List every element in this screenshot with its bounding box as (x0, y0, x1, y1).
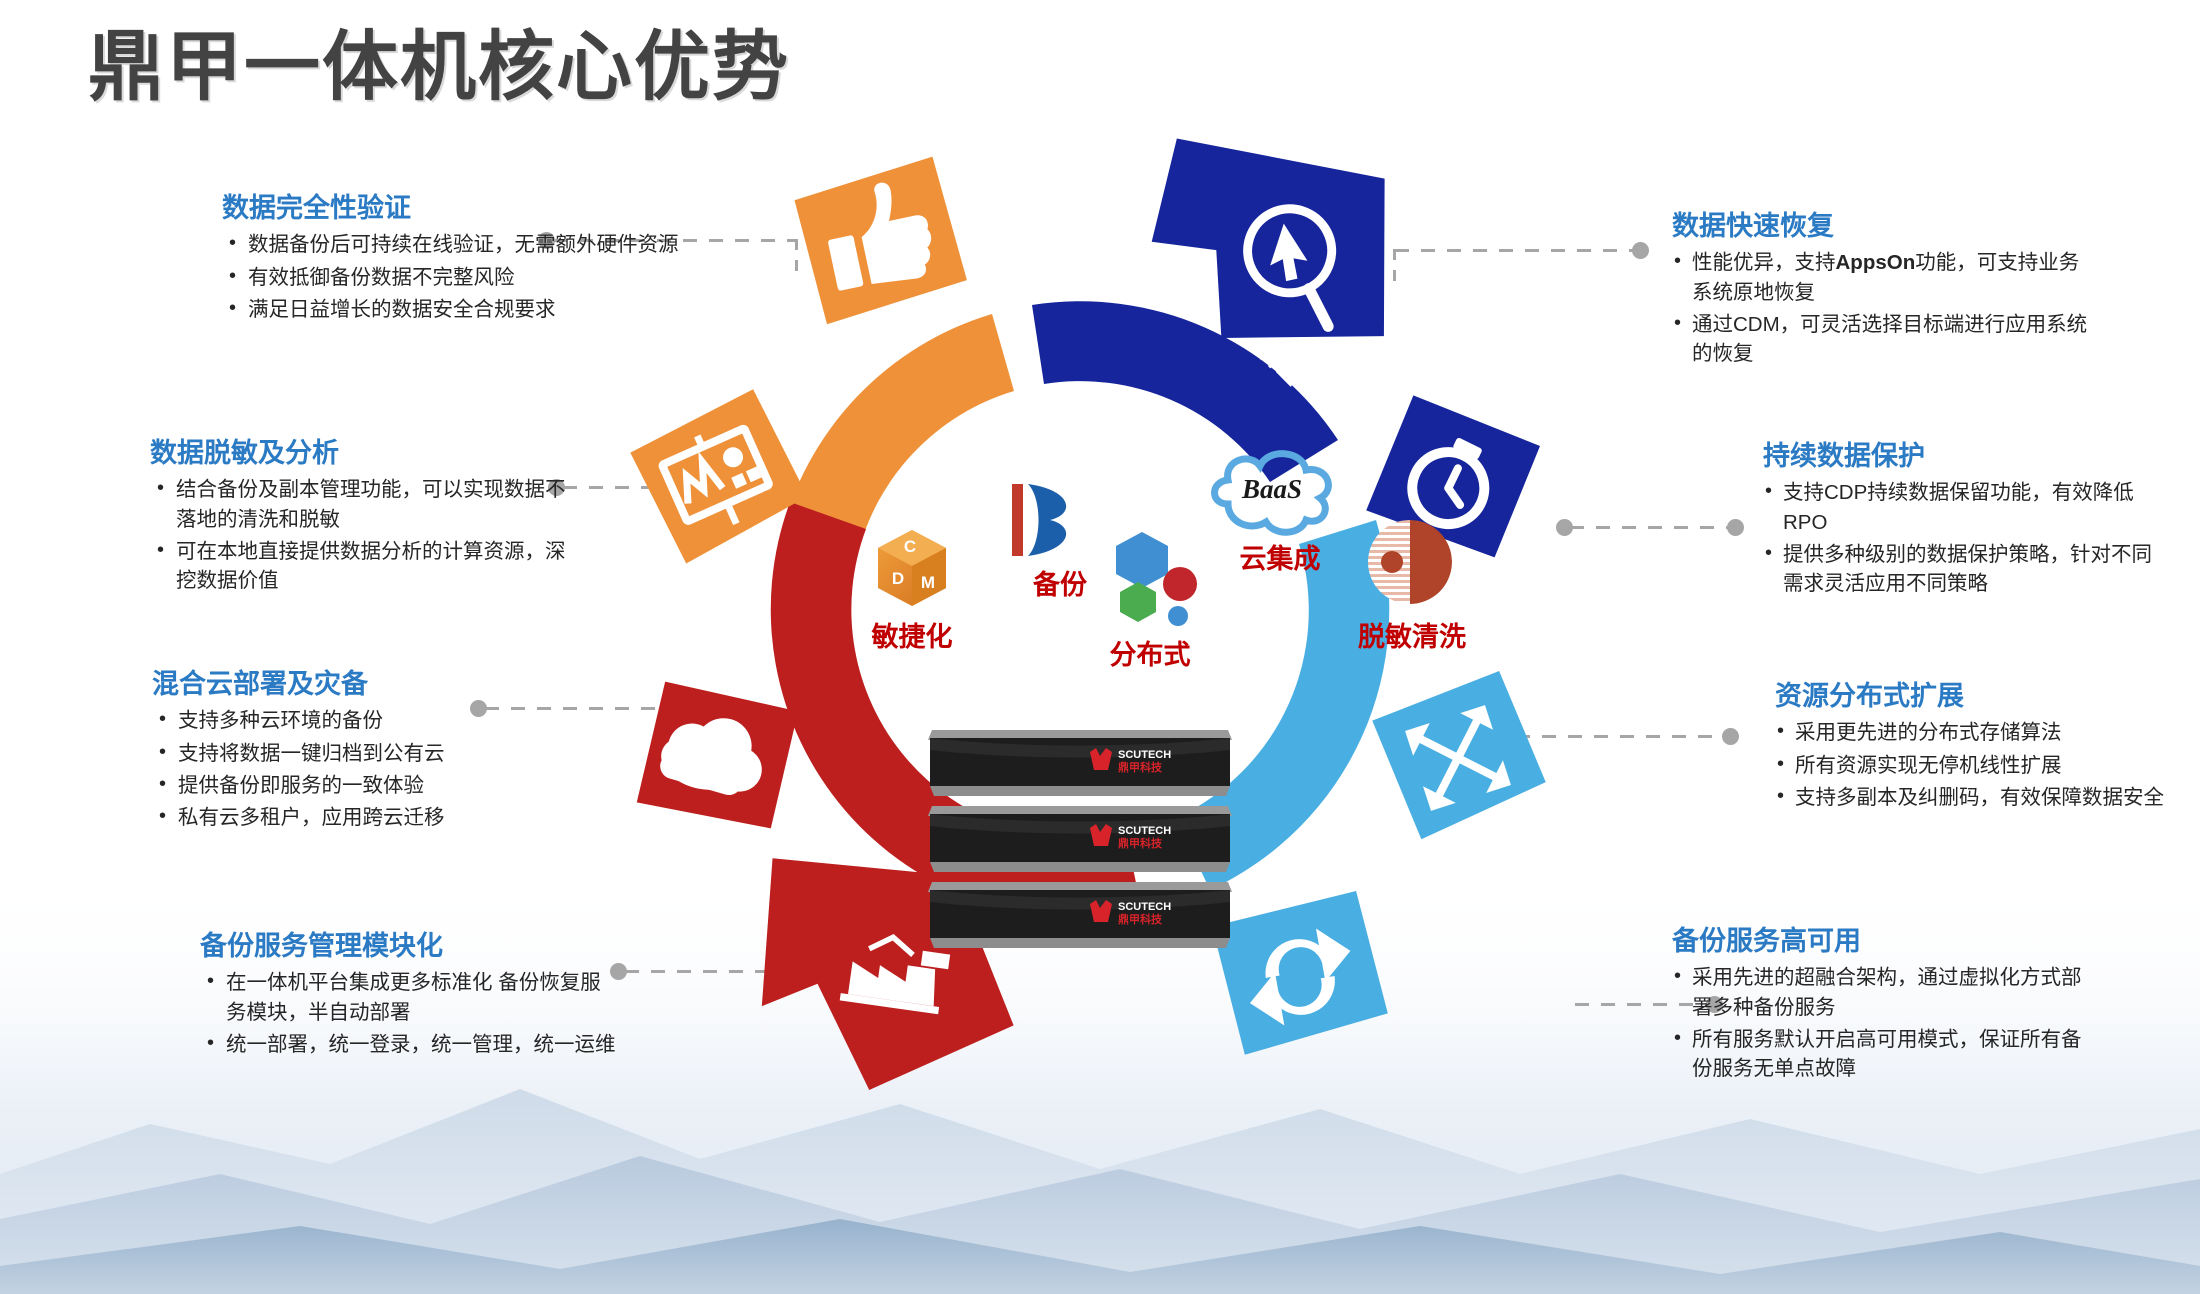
bullet-item: 统一部署，统一登录，统一管理，统一运维 (200, 1030, 620, 1059)
brand-cn: 鼎甲科技 (1118, 760, 1163, 774)
center-label-distributed: 分布式 (1110, 640, 1191, 670)
bullet-item: 提供备份即服务的一致体验 (152, 771, 582, 800)
block-bullet-list: 支持多种云环境的备份 支持将数据一键归档到公有云 提供备份即服务的一致体验 私有… (152, 706, 582, 831)
center-label-cdm: 敏捷化 (871, 622, 953, 652)
center-item-cdm[interactable]: C D M 敏捷化 (871, 530, 953, 652)
block-bullet-list: 采用更先进的分布式存储算法 所有资源实现无停机线性扩展 支持多副本及纠删码，有效… (1775, 718, 2180, 811)
center-label-masking: 脱敏清洗 (1358, 622, 1466, 652)
bullet-item: 支持多种云环境的备份 (152, 706, 582, 735)
text-block-hybrid-cloud-deployment-dr: 混合云部署及灾备 支持多种云环境的备份 支持将数据一键归档到公有云 提供备份即服… (152, 668, 582, 835)
connector-dot-7 (1722, 728, 1739, 745)
block-heading: 备份服务管理模块化 (200, 930, 620, 962)
connector-line-6 (1570, 526, 1730, 529)
bullet-item: 提供多种级别的数据保护策略，针对不同需求灵活应用不同策略 (1763, 540, 2163, 598)
block-heading: 备份服务高可用 (1672, 925, 2097, 957)
block-heading: 数据脱敏及分析 (150, 437, 580, 469)
bullet-item: 采用更先进的分布式存储算法 (1775, 718, 2180, 747)
bullet-item: 通过CDM，可灵活选择目标端进行应用系统的恢复 (1672, 310, 2092, 368)
badge-sync-refresh[interactable] (1210, 889, 1390, 1056)
center-item-backup[interactable]: 备份 (1012, 484, 1087, 600)
center-label-cloud-integration: 云集成 (1240, 543, 1321, 574)
center-item-distributed[interactable]: 分布式 (1110, 532, 1198, 670)
brand-en: SCUTECH (1118, 825, 1171, 837)
bullet-item: 私有云多租户，应用跨云迁移 (152, 803, 582, 832)
block-heading: 数据快速恢复 (1672, 210, 2092, 242)
bullet-item: 可在本地直接提供数据分析的计算资源，深挖数据价值 (150, 537, 580, 595)
text-block-data-masking-analysis: 数据脱敏及分析 结合备份及副本管理功能，可以实现数据不落地的清洗和脱敏 可在本地… (150, 437, 580, 598)
badge-thumbs-up[interactable] (792, 155, 970, 325)
brand-en: SCUTECH (1118, 901, 1171, 913)
text-block-backup-service-modularization: 备份服务管理模块化 在一体机平台集成更多标准化 备份恢复服务模块，半自动部署 统… (200, 930, 620, 1062)
bullet-item: 结合备份及副本管理功能，可以实现数据不落地的清洗和脱敏 (150, 475, 580, 533)
bullet-emphasis-appson: AppsOn (1836, 251, 1916, 274)
block-heading: 资源分布式扩展 (1775, 680, 2180, 712)
scutech-server-stack[interactable]: SCUTECH 鼎甲科技 SCUTECH 鼎甲科技 SCUTECH (928, 730, 1232, 948)
bullet-item: 所有服务默认开启高可用模式，保证所有备份服务无单点故障 (1672, 1025, 2097, 1083)
bullet-item: 所有资源实现无停机线性扩展 (1775, 751, 2180, 780)
db-logo-icon (1012, 484, 1066, 556)
svg-text:M: M (921, 573, 935, 592)
text-block-continuous-data-protection: 持续数据保护 支持CDP持续数据保留功能，有效降低RPO 提供多种级别的数据保护… (1763, 440, 2163, 601)
bullet-item: 性能优异，支持AppsOn功能，可支持业务系统原地恢复 (1672, 248, 2092, 306)
page-title: 鼎甲一体机核心优势 (88, 24, 790, 111)
block-bullet-list: 支持CDP持续数据保留功能，有效降低RPO 提供多种级别的数据保护策略，针对不同… (1763, 478, 2163, 597)
badge-cloud[interactable] (631, 674, 804, 840)
block-bullet-list: 结合备份及副本管理功能，可以实现数据不落地的清洗和脱敏 可在本地直接提供数据分析… (150, 475, 580, 594)
connector-dot-5 (1632, 242, 1649, 259)
text-block-distributed-resource-scaling: 资源分布式扩展 采用更先进的分布式存储算法 所有资源实现无停机线性扩展 支持多副… (1775, 680, 2180, 815)
bullet-item: 在一体机平台集成更多标准化 备份恢复服务模块，半自动部署 (200, 968, 620, 1026)
server-unit[interactable]: SCUTECH 鼎甲科技 (928, 806, 1232, 872)
core-advantages-ring-diagram: 聚焦数据价值 降低业务风险 突破资源瓶颈 服务全面云化 (610, 130, 1590, 1130)
cdm-cube-icon: C D M (878, 530, 946, 606)
bullet-text-a: 性能优异，支持 (1692, 251, 1836, 274)
bullet-item: 支持将数据一键归档到公有云 (152, 739, 582, 768)
text-block-backup-service-high-availability: 备份服务高可用 采用先进的超融合架构，通过虚拟化方式部署多种备份服务 所有服务默… (1672, 925, 2097, 1086)
text-block-fast-data-recovery: 数据快速恢复 性能优异，支持AppsOn功能，可支持业务系统原地恢复 通过CDM… (1672, 210, 2092, 371)
baas-glyph: BaaS (1241, 474, 1302, 504)
center-label-backup: 备份 (1032, 570, 1087, 600)
block-bullet-list: 在一体机平台集成更多标准化 备份恢复服务模块，半自动部署 统一部署，统一登录，统… (200, 968, 620, 1058)
server-unit[interactable]: SCUTECH 鼎甲科技 (928, 730, 1232, 796)
brand-cn: 鼎甲科技 (1118, 836, 1163, 850)
svg-text:C: C (904, 537, 916, 556)
badge-expand-arrows[interactable] (1370, 668, 1551, 842)
block-bullet-list: 采用先进的超融合架构，通过虚拟化方式部署多种备份服务 所有服务默认开启高可用模式… (1672, 963, 2097, 1082)
bullet-item: 支持CDP持续数据保留功能，有效降低RPO (1763, 478, 2163, 536)
svg-text:D: D (892, 569, 904, 588)
brand-en: SCUTECH (1118, 749, 1171, 761)
block-heading: 混合云部署及灾备 (152, 668, 582, 700)
hexagons-icon (1116, 532, 1197, 626)
brand-cn: 鼎甲科技 (1118, 912, 1163, 926)
bullet-item: 支持多副本及纠删码，有效保障数据安全 (1775, 783, 2180, 812)
server-unit[interactable]: SCUTECH 鼎甲科技 (928, 882, 1232, 948)
bullet-item: 采用先进的超融合架构，通过虚拟化方式部署多种备份服务 (1672, 963, 2097, 1021)
block-heading: 持续数据保护 (1763, 440, 2163, 472)
connector-dot-6b (1727, 519, 1744, 536)
block-bullet-list: 性能优异，支持AppsOn功能，可支持业务系统原地恢复 通过CDM，可灵活选择目… (1672, 248, 2092, 367)
